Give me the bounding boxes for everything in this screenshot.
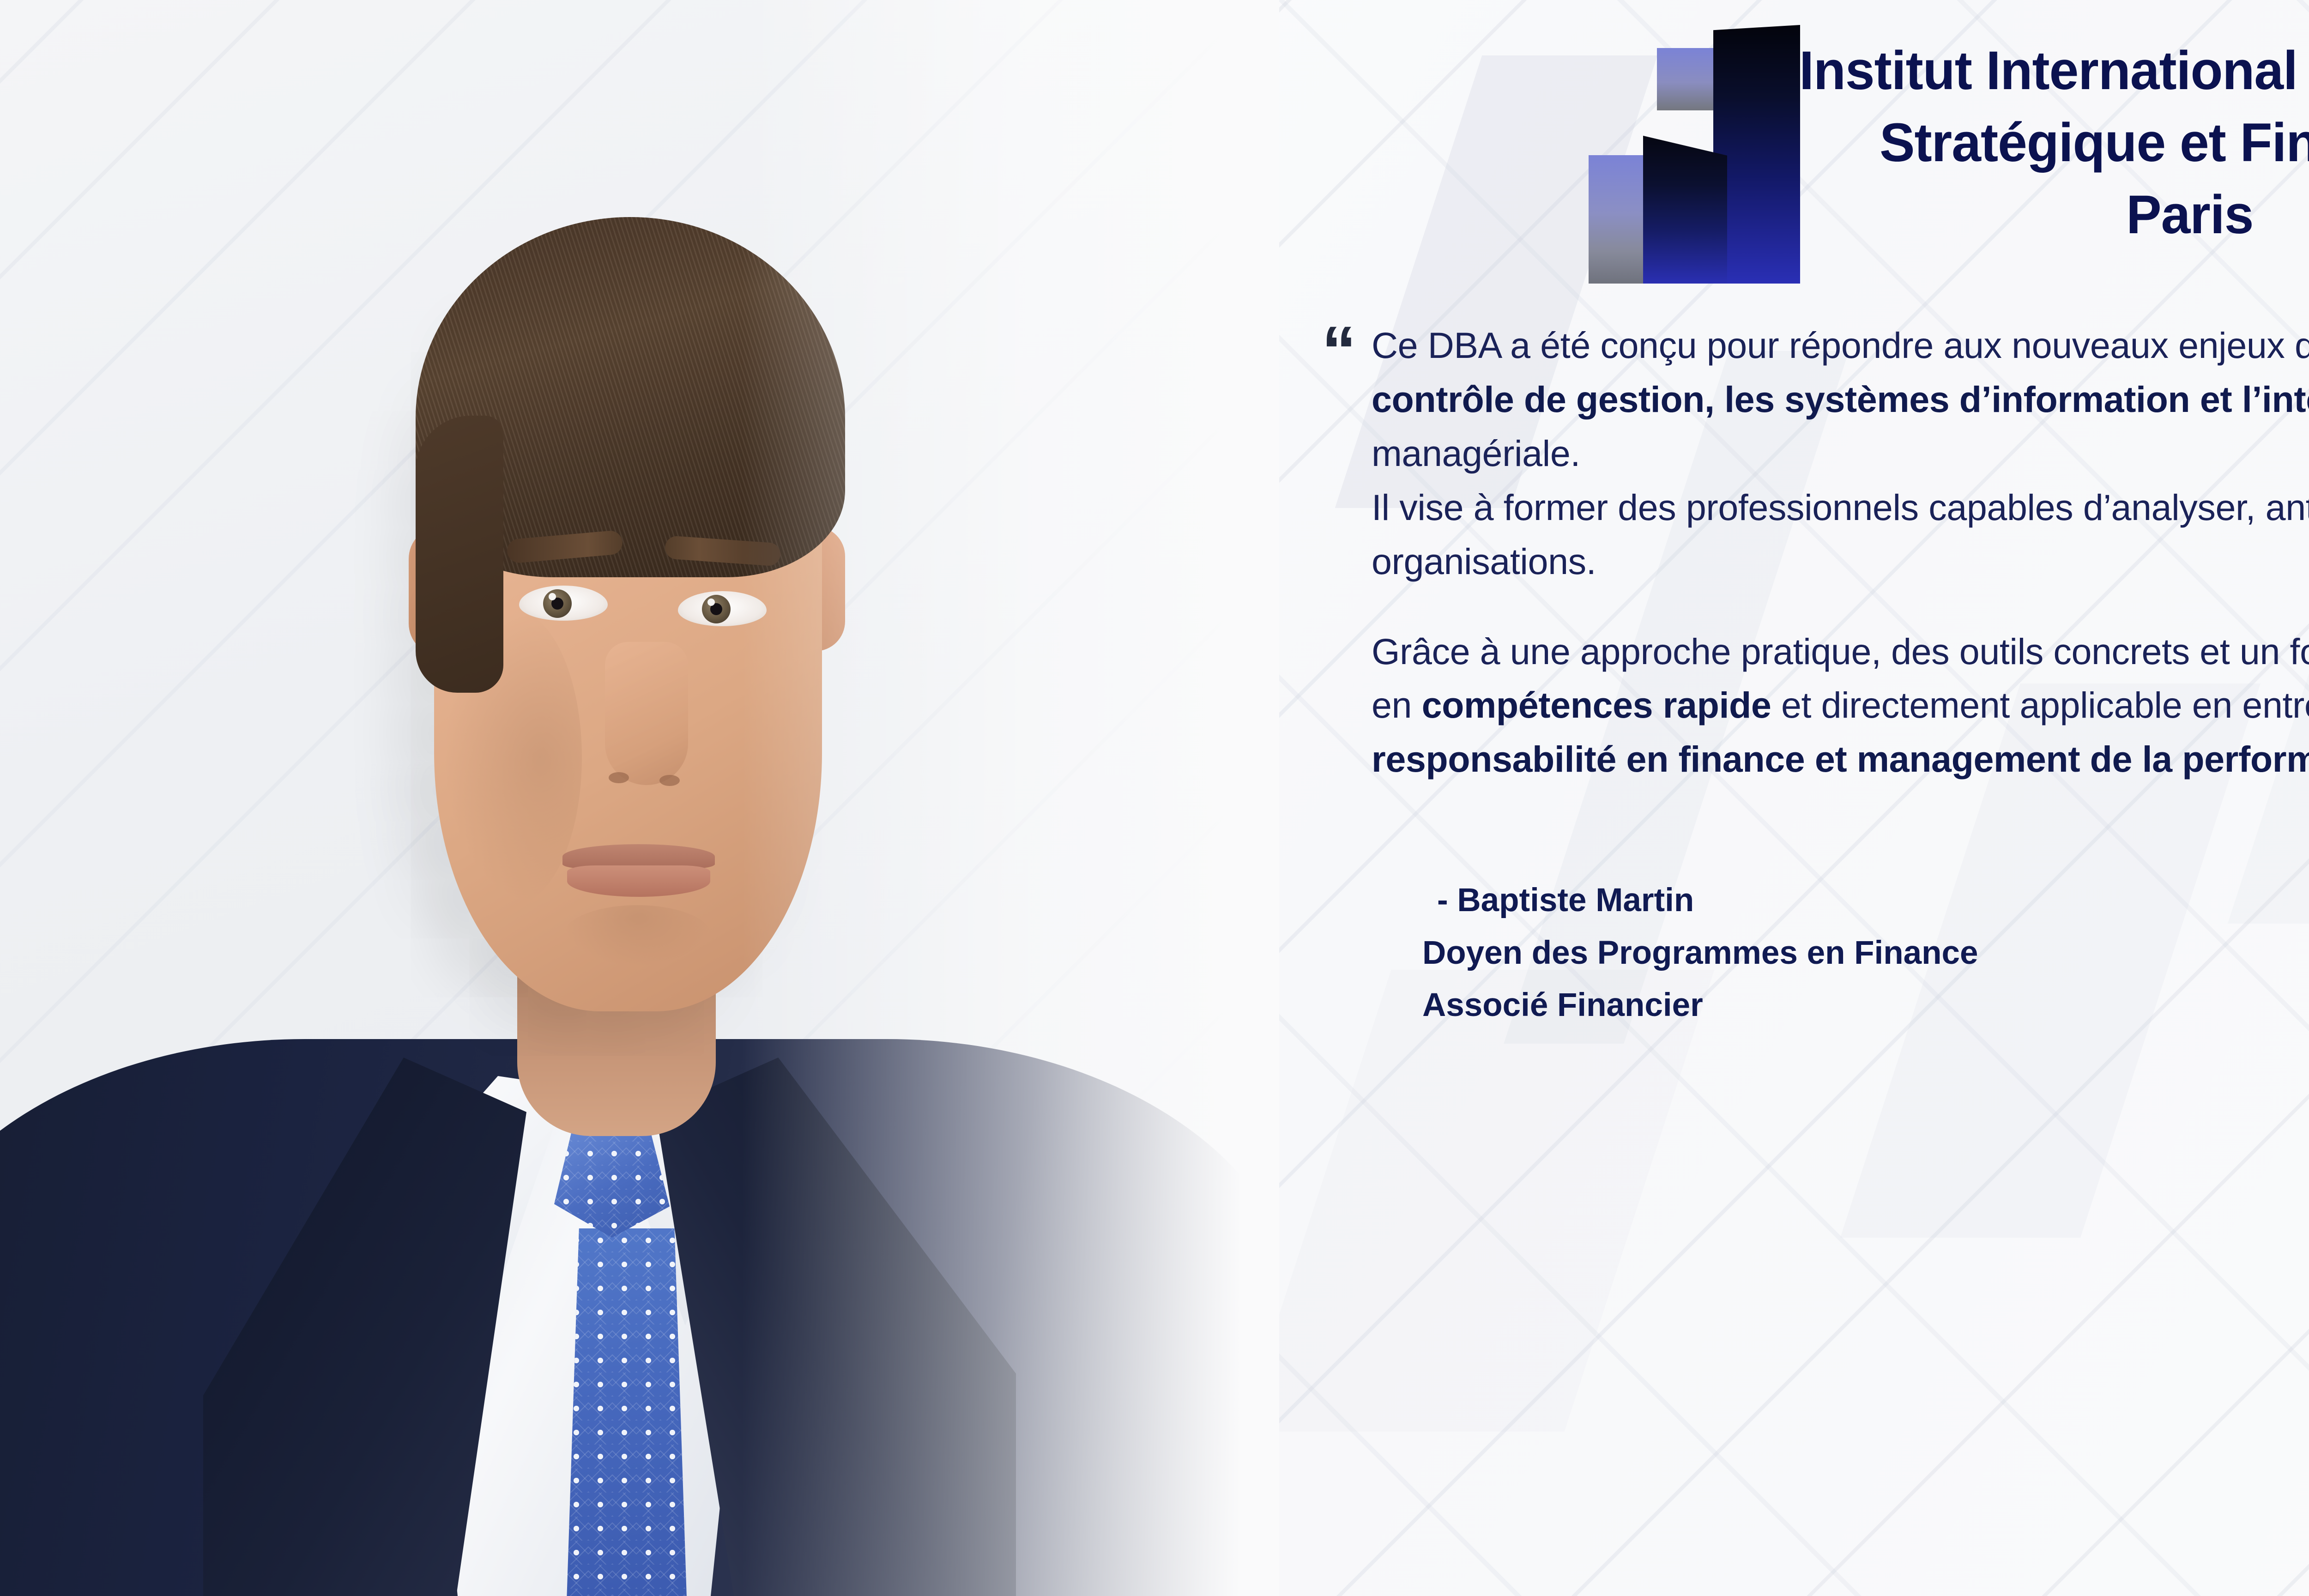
- author-role-line-2: Associé Financier: [1422, 979, 2309, 1032]
- institute-logo-icon: [1589, 16, 1787, 274]
- person-figure: [0, 0, 1279, 1596]
- nose: [605, 642, 688, 785]
- author-role-line-1: Doyen des Programmes en Finance: [1422, 927, 2309, 979]
- nostril-right: [659, 775, 680, 786]
- testimonial-quote: “ Ce DBA a été conçu pour répondre aux n…: [1279, 319, 2309, 786]
- chin: [563, 905, 711, 965]
- iris-right: [702, 595, 731, 623]
- quote-p1-part1: Ce DBA a été conçu pour répondre aux nou…: [1372, 325, 2309, 366]
- necktie-blade: [564, 1228, 687, 1596]
- paragraph-spacer: [1372, 589, 2309, 625]
- brand-header: Institut International de Gestion Straté…: [1279, 18, 2309, 274]
- logo-bar-short: [1589, 131, 1727, 284]
- content-pane: Institut International de Gestion Straté…: [1279, 0, 2309, 1596]
- institute-title: Institut International de Gestion Straté…: [1799, 18, 2309, 251]
- quote-p2-bold2: responsabilité en finance et management …: [1372, 738, 2309, 780]
- eye-right: [678, 591, 767, 626]
- portrait-photo: [0, 0, 1279, 1596]
- quote-text: Ce DBA a été conçu pour répondre aux nou…: [1372, 319, 2309, 786]
- testimonial-slide: Institut International de Gestion Straté…: [0, 0, 2309, 1596]
- lower-lip: [567, 865, 710, 897]
- quote-paragraph-1: Ce DBA a été conçu pour répondre aux nou…: [1372, 319, 2309, 589]
- nostril-left: [609, 772, 629, 783]
- quote-p2-bold1: compétences rapide: [1422, 684, 1771, 725]
- quote-open-icon: “: [1322, 316, 1356, 385]
- quote-p1-part3: Il vise à former des professionnels capa…: [1372, 487, 2309, 582]
- iris-left: [543, 589, 572, 618]
- quote-p2-part2: et directement applicable en entreprise,…: [1771, 684, 2309, 725]
- author-name: - Baptiste Martin: [1422, 874, 2309, 927]
- quote-paragraph-2: Grâce à une approche pratique, des outil…: [1372, 625, 2309, 787]
- eye-left: [519, 586, 608, 621]
- hair-sideburn: [416, 416, 503, 693]
- quote-attribution: - Baptiste Martin Doyen des Programmes e…: [1279, 874, 2309, 1032]
